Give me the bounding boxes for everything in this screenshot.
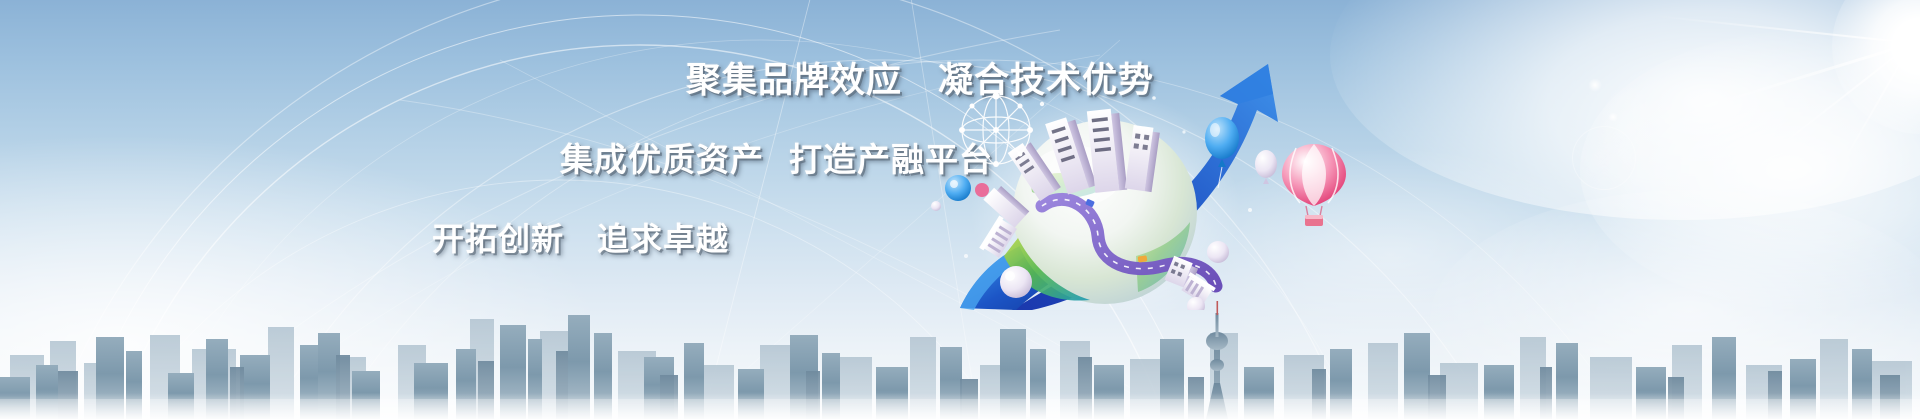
lens-flare-streak bbox=[1600, 86, 1660, 174]
sun-ray bbox=[1754, 42, 1913, 167]
pearl-small bbox=[931, 201, 941, 211]
lens-flare-ring bbox=[1572, 126, 1636, 190]
hot-air-balloon bbox=[1282, 144, 1346, 226]
slogan-innovate: 开拓创新 追求卓越 bbox=[432, 214, 729, 260]
pearl-right bbox=[1207, 241, 1229, 263]
city-skyline bbox=[0, 279, 1920, 419]
hero-banner: 聚集品牌效应 凝合技术优势 集成优质资产 打造产融平台 开拓创新 追求卓越 bbox=[0, 0, 1920, 419]
sun-ray bbox=[1653, 15, 1912, 44]
globe-arrow-artwork bbox=[900, 60, 1460, 310]
sphere-pink-small bbox=[975, 183, 989, 197]
sun-ray bbox=[1836, 43, 1913, 174]
sphere-blue-small bbox=[945, 175, 971, 201]
lens-flare-dot bbox=[1608, 112, 1618, 122]
cloud-right bbox=[1580, 30, 1920, 310]
balloon-white bbox=[1255, 150, 1277, 184]
lens-flare-dot bbox=[1588, 78, 1602, 92]
sun-ray bbox=[1692, 42, 1913, 112]
sun-icon bbox=[1832, 0, 1920, 134]
